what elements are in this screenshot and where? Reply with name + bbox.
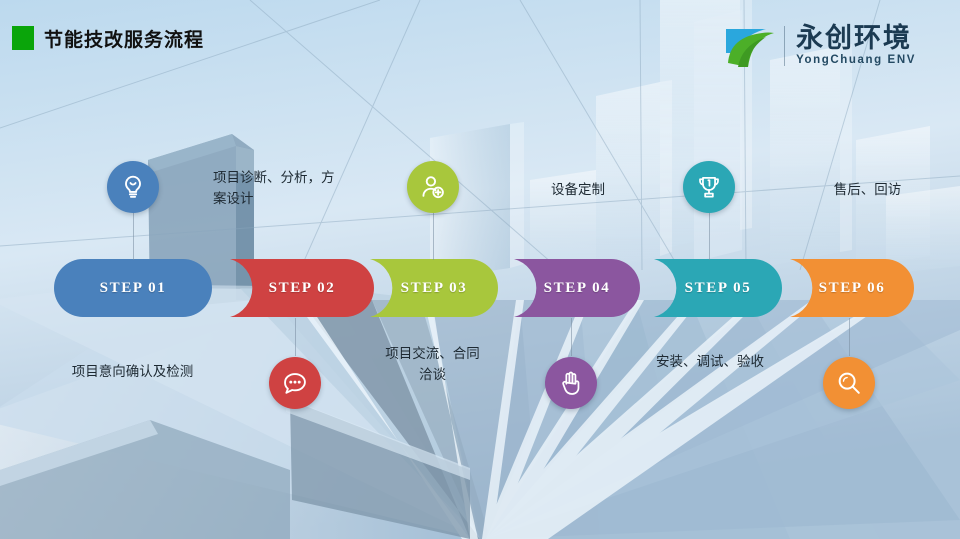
step-icon-bubble-2[interactable] — [269, 357, 321, 409]
step-label-1: STEP 01 — [100, 280, 167, 297]
process-step-banners: STEP 01 STEP 02 STEP 03 STEP 04 — [0, 259, 960, 319]
connector-stem-2 — [295, 318, 296, 356]
title-accent-marker — [12, 26, 34, 50]
step-icon-bubble-4[interactable] — [545, 357, 597, 409]
step-icon-bubble-1[interactable] — [107, 161, 159, 213]
logo-divider — [784, 26, 785, 66]
trophy-icon — [695, 173, 723, 201]
step-banner-3[interactable]: STEP 03 — [370, 259, 498, 317]
hand-icon — [557, 369, 585, 397]
slide-canvas: 节能技改服务流程 永创环境 YongChuang ENV STEP 01 — [0, 0, 960, 539]
step-caption-3: 项目交流、合同 洽谈 — [345, 344, 520, 386]
slide-header: 节能技改服务流程 永创环境 YongChuang ENV — [0, 0, 960, 62]
logo-name-cn: 永创环境 — [796, 25, 916, 52]
logo-text: 永创环境 YongChuang ENV — [796, 25, 916, 67]
step-banner-6[interactable]: STEP 06 — [790, 259, 914, 317]
logo-mark-svg — [722, 23, 778, 69]
step-caption-2: 项目诊断、分析，方 案设计 — [195, 168, 413, 210]
add-user-icon — [419, 173, 447, 201]
step-label-3: STEP 03 — [401, 280, 468, 297]
step-label-6: STEP 06 — [819, 280, 886, 297]
step-icon-bubble-5[interactable] — [683, 161, 735, 213]
logo-swoosh-icon — [722, 23, 778, 69]
logo-name-en: YongChuang ENV — [796, 55, 916, 67]
step-label-4: STEP 04 — [544, 280, 611, 297]
company-logo: 永创环境 YongChuang ENV — [722, 20, 916, 72]
step-banner-2[interactable]: STEP 02 — [230, 259, 374, 317]
step-banner-4[interactable]: STEP 04 — [514, 259, 640, 317]
step-banner-1[interactable]: STEP 01 — [54, 259, 212, 317]
connector-stem-3 — [433, 208, 434, 260]
page-title: 节能技改服务流程 — [44, 25, 204, 52]
step-label-2: STEP 02 — [269, 280, 336, 297]
search-icon — [835, 369, 863, 397]
step-caption-1: 项目意向确认及检测 — [20, 362, 245, 383]
connector-stem-6 — [849, 318, 850, 356]
lightbulb-icon — [119, 173, 147, 201]
step-icon-bubble-3[interactable] — [407, 161, 459, 213]
step-caption-6: 售后、回访 — [780, 180, 955, 201]
step-label-5: STEP 05 — [685, 280, 752, 297]
step-icon-bubble-6[interactable] — [823, 357, 875, 409]
connector-stem-4 — [571, 318, 572, 356]
chat-bubble-icon — [281, 369, 309, 397]
connector-stem-1 — [133, 212, 134, 260]
step-caption-5: 安装、调试、验收 — [615, 352, 805, 373]
step-banner-5[interactable]: STEP 05 — [654, 259, 782, 317]
step-caption-4: 设备定制 — [508, 180, 648, 201]
connector-stem-5 — [709, 208, 710, 260]
